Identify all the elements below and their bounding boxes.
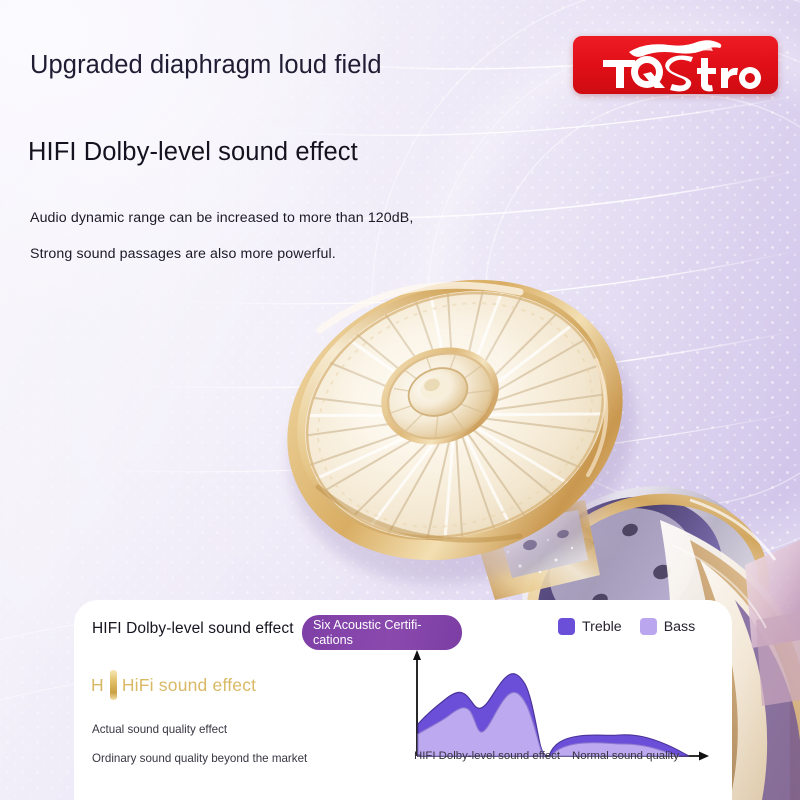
- hero-heading-primary: Upgraded diaphragm loud field: [30, 47, 410, 83]
- motorcycle-icon: [629, 40, 721, 57]
- hifi-highlight: H HiFi sound effect: [91, 670, 256, 700]
- hifi-bar-icon: [110, 670, 117, 700]
- legend-swatch-bass: [640, 618, 657, 635]
- hifi-initial: H: [91, 675, 104, 696]
- logo-artwork: [573, 36, 778, 94]
- x-tick-label-hifi: HIFI Dolby-level sound effect: [414, 750, 560, 762]
- chart-legend: Treble Bass: [558, 618, 695, 635]
- legend-label-treble: Treble: [582, 619, 622, 635]
- x-tick-label-normal: Normal sound quality: [572, 750, 679, 762]
- legend-item-bass: Bass: [640, 618, 696, 635]
- sound-quality-area-chart: [407, 648, 717, 766]
- marketing-banner: TRStro Upgraded diaphragm loud field HIF…: [0, 0, 800, 800]
- legend-label-bass: Bass: [664, 619, 696, 635]
- chart-x-tick-labels: HIFI Dolby-level sound effect Normal sou…: [414, 750, 679, 762]
- note-ordinary-quality: Ordinary sound quality beyond the market: [92, 752, 307, 766]
- brand-logo[interactable]: TRStro: [573, 36, 778, 94]
- spec-card: HIFI Dolby-level sound effect Six Acoust…: [74, 600, 732, 800]
- hero-body-line-2: Strong sound passages are also more powe…: [30, 246, 336, 262]
- hero-heading-secondary: HIFI Dolby-level sound effect: [28, 135, 458, 169]
- legend-item-treble: Treble: [558, 618, 622, 635]
- legend-swatch-treble: [558, 618, 575, 635]
- hifi-label: HiFi sound effect: [122, 675, 256, 696]
- note-actual-quality: Actual sound quality effect: [92, 723, 227, 737]
- x-axis-arrow: [699, 752, 709, 761]
- card-title: HIFI Dolby-level sound effect: [92, 620, 294, 638]
- hero-body-line-1: Audio dynamic range can be increased to …: [30, 210, 413, 226]
- certification-badge[interactable]: Six Acoustic Certifi-cations: [302, 615, 462, 650]
- y-axis-arrow: [413, 650, 421, 660]
